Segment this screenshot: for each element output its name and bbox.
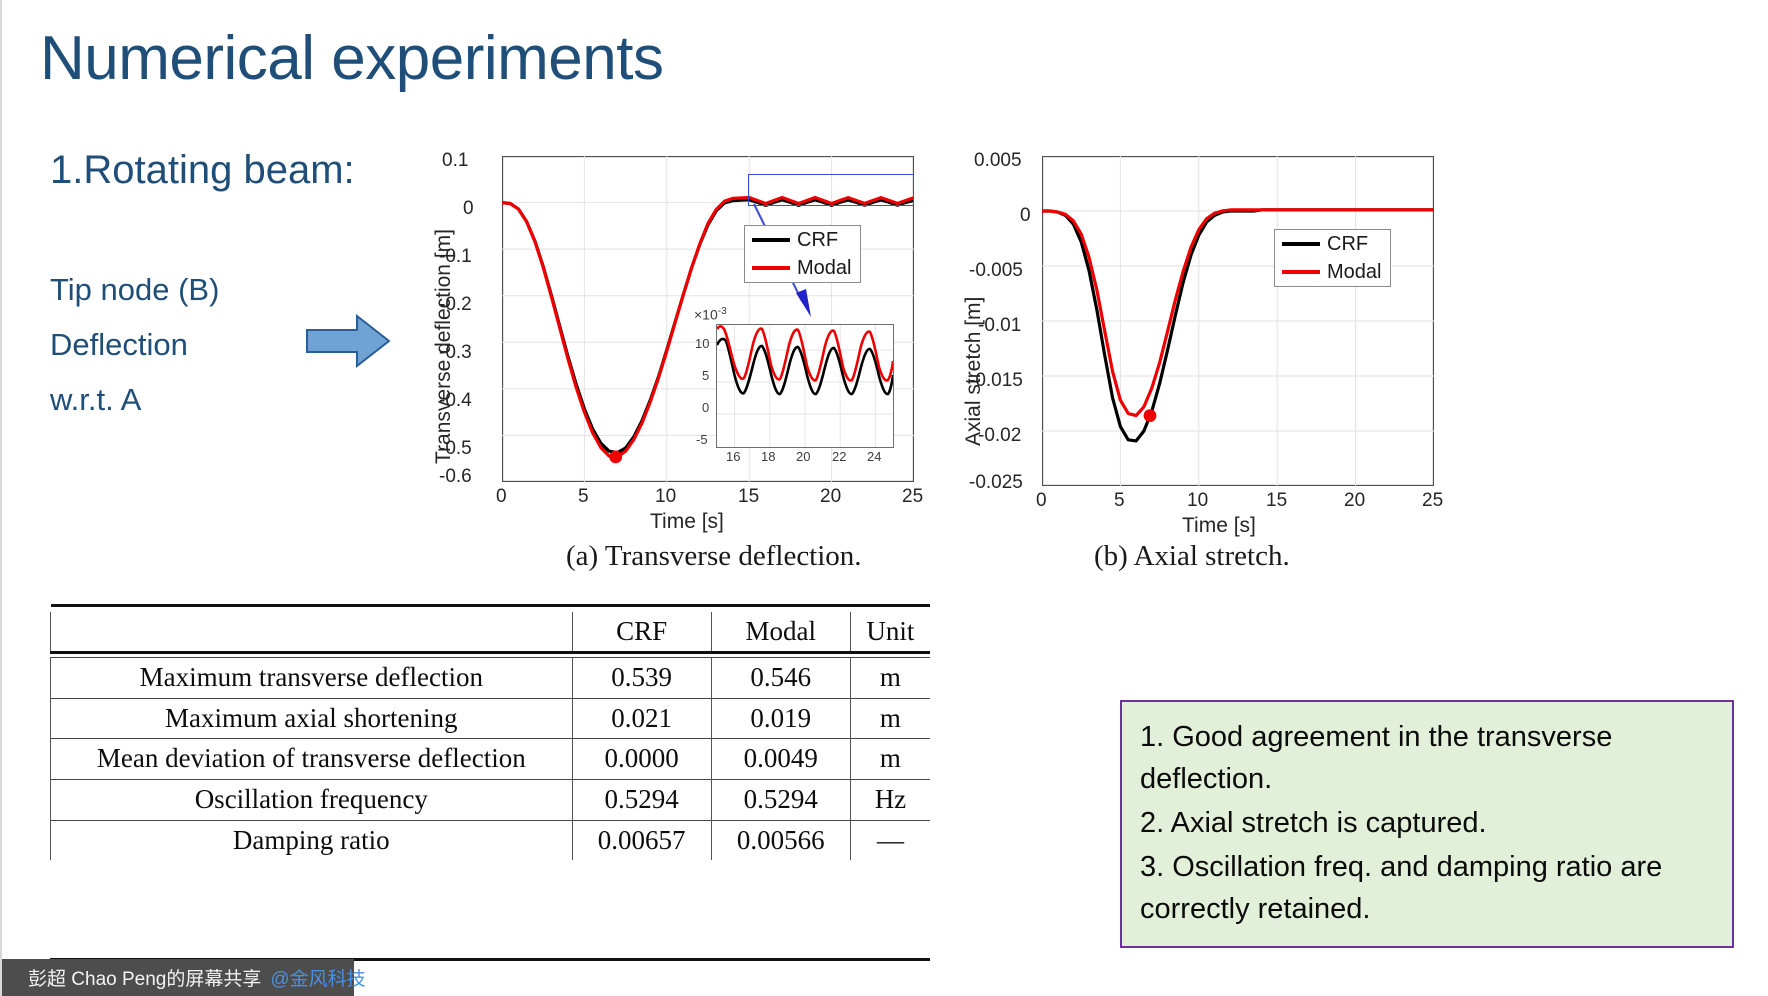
inset-xtick-a-22: 22 <box>832 449 846 464</box>
cell-crf: 0.539 <box>572 658 711 699</box>
screen-share-bar[interactable]: 彭超 Chao Peng的屏幕共享 @金风科技 <box>2 959 354 996</box>
right-arrow-icon <box>305 310 391 372</box>
xtick-a-0: 0 <box>496 486 507 508</box>
chart-transverse-deflection: 0.1 0 -0.1 -0.2 -0.3 -0.4 -0.5 -0.6 Tran… <box>434 146 934 536</box>
cell-modal: 0.00566 <box>711 820 850 860</box>
legend-label-crf: CRF <box>797 229 838 252</box>
cell-unit: Hz <box>850 780 930 821</box>
legend-swatch-crf <box>752 238 790 242</box>
inset-exponent-label-a: ×10-3 <box>694 306 727 323</box>
ytick-b-0: 0.005 <box>974 150 1022 172</box>
table-header-row: CRF Modal Unit <box>51 612 931 653</box>
legend-label-crf: CRF <box>1327 233 1368 256</box>
cell-crf: 0.5294 <box>572 780 711 821</box>
ytick-a-7: -0.6 <box>439 466 472 488</box>
cell-unit: — <box>850 820 930 860</box>
ytick-b-1: 0 <box>1020 205 1031 227</box>
legend-entry-crf: CRF <box>1282 233 1383 256</box>
legend-label-modal: Modal <box>797 257 851 280</box>
cell-label: Oscillation frequency <box>51 780 573 821</box>
inset-xtick-a-20: 20 <box>796 449 810 464</box>
legend-swatch-modal <box>752 266 790 270</box>
xtick-a-5: 5 <box>578 486 589 508</box>
slide-canvas: Numerical experiments 1.Rotating beam: T… <box>0 0 1768 996</box>
xtick-b-5: 5 <box>1114 490 1125 512</box>
legend-a[interactable]: CRF Modal <box>744 225 861 283</box>
conclusions-box: 1. Good agreement in the transverse defl… <box>1120 700 1734 948</box>
chart-axial-stretch: 0.005 0 -0.005 -0.01 -0.015 -0.02 -0.025… <box>964 146 1454 536</box>
cell-label: Mean deviation of transverse deflection <box>51 739 573 780</box>
page-title: Numerical experiments <box>40 28 664 90</box>
inset-plot-a <box>716 324 894 448</box>
conclusion-item-2: 2. Axial stretch is captured. <box>1140 802 1714 844</box>
table-row: Maximum transverse deflection 0.539 0.54… <box>51 658 931 699</box>
cell-label: Maximum axial shortening <box>51 698 573 739</box>
cell-modal: 0.0049 <box>711 739 850 780</box>
cell-crf: 0.0000 <box>572 739 711 780</box>
legend-label-modal: Modal <box>1327 261 1381 284</box>
inset-xtick-a-18: 18 <box>761 449 775 464</box>
cell-crf: 0.00657 <box>572 820 711 860</box>
cell-unit: m <box>850 739 930 780</box>
inset-ytick-a-10: 10 <box>695 336 709 351</box>
table-row: Mean deviation of transverse deflection … <box>51 739 931 780</box>
inset-ytick-a-5: 5 <box>702 368 709 383</box>
xtick-a-15: 15 <box>738 486 759 508</box>
results-table: CRF Modal Unit Maximum transverse deflec… <box>50 604 930 860</box>
xtick-a-10: 10 <box>655 486 676 508</box>
legend-entry-crf: CRF <box>752 229 853 252</box>
ylabel-transverse-deflection: Transverse deflection [m] <box>432 229 456 464</box>
figure-caption-b: (b) Axial stretch. <box>1094 540 1290 573</box>
cell-modal: 0.5294 <box>711 780 850 821</box>
ylabel-axial-stretch: Axial stretch [m] <box>962 297 986 446</box>
legend-swatch-crf <box>1282 242 1320 246</box>
table-row: Oscillation frequency 0.5294 0.5294 Hz <box>51 780 931 821</box>
legend-swatch-modal <box>1282 270 1320 274</box>
inset-ytick-a-m5: -5 <box>696 432 708 447</box>
marker-max-deflection <box>609 451 622 464</box>
share-status-text: 彭超 Chao Peng的屏幕共享 <box>28 964 261 991</box>
cell-label: Maximum transverse deflection <box>51 658 573 699</box>
xtick-a-20: 20 <box>820 486 841 508</box>
xtick-a-25: 25 <box>902 486 923 508</box>
cell-modal: 0.019 <box>711 698 850 739</box>
section-subtitle: 1.Rotating beam: <box>50 148 355 193</box>
share-handle: @金风科技 <box>270 964 365 991</box>
table-row: Maximum axial shortening 0.021 0.019 m <box>51 698 931 739</box>
cell-modal: 0.546 <box>711 658 850 699</box>
ytick-b-6: -0.025 <box>969 472 1023 494</box>
inset-xtick-a-24: 24 <box>867 449 881 464</box>
cell-label: Damping ratio <box>51 820 573 860</box>
plot-area-b <box>1042 156 1434 486</box>
th-modal: Modal <box>711 612 850 653</box>
ytick-a-1: 0 <box>463 198 474 220</box>
th-crf: CRF <box>572 612 711 653</box>
lead-line-deflection: Deflection <box>50 327 188 363</box>
legend-b[interactable]: CRF Modal <box>1274 229 1391 287</box>
cell-unit: m <box>850 698 930 739</box>
ytick-b-2: -0.005 <box>969 260 1023 282</box>
cell-crf: 0.021 <box>572 698 711 739</box>
inset-ytick-a-0: 0 <box>702 400 709 415</box>
xtick-b-15: 15 <box>1266 490 1287 512</box>
xtick-b-10: 10 <box>1187 490 1208 512</box>
inset-xtick-a-16: 16 <box>726 449 740 464</box>
th-unit: Unit <box>850 612 930 653</box>
lead-line-tip-node: Tip node (B) <box>50 272 219 308</box>
th-blank <box>51 612 573 653</box>
conclusion-item-3: 3. Oscillation freq. and damping ratio a… <box>1140 846 1714 930</box>
xlabel-time-b: Time [s] <box>1182 514 1256 538</box>
lead-line-wrt-a: w.r.t. A <box>50 382 141 418</box>
xtick-b-0: 0 <box>1036 490 1047 512</box>
xtick-b-25: 25 <box>1422 490 1443 512</box>
ytick-a-0: 0.1 <box>442 150 468 172</box>
xtick-b-20: 20 <box>1344 490 1365 512</box>
legend-entry-modal: Modal <box>752 257 853 280</box>
legend-entry-modal: Modal <box>1282 261 1383 284</box>
conclusion-item-1: 1. Good agreement in the transverse defl… <box>1140 716 1714 800</box>
cell-unit: m <box>850 658 930 699</box>
table-row: Damping ratio 0.00657 0.00566 — <box>51 820 931 860</box>
figure-caption-a: (a) Transverse deflection. <box>566 540 862 573</box>
xlabel-time-a: Time [s] <box>650 510 724 534</box>
marker-max-axial-shortening <box>1144 409 1157 422</box>
